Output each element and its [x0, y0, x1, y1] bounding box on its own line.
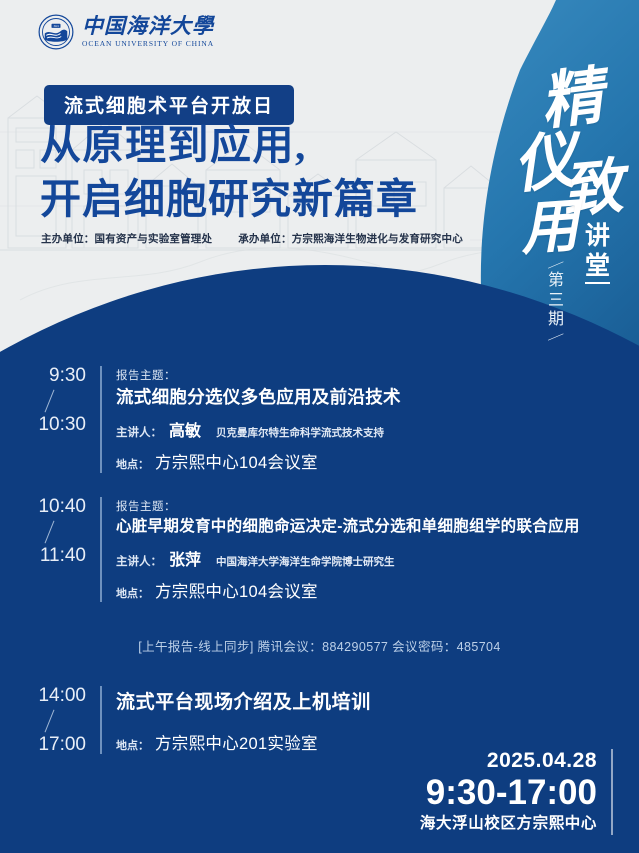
time-separator-slash — [0, 705, 86, 735]
speaker-affiliation: 贝克曼库尔特生命科学流式技术支持 — [216, 425, 384, 440]
series-name-char-2: 堂 — [585, 252, 610, 285]
topic-label: 报告主题： — [116, 498, 639, 514]
place-value: 方宗熙中心201实验室 — [155, 730, 318, 754]
session-end-time: 17:00 — [0, 735, 86, 754]
speaker-label: 主讲人： — [116, 424, 162, 440]
schedule-row: 14:00 17:00 流式平台现场介绍及上机培训 地点： 方宗熙中心201实验… — [0, 686, 639, 754]
session-topic: 流式细胞分选仪多色应用及前沿技术 — [116, 387, 639, 408]
svg-text:1924: 1924 — [53, 25, 59, 28]
event-venue: 海大浮山校区方宗熙中心 — [420, 814, 597, 835]
organizer-co: 承办单位：方宗熙海洋生物进化与发育研究中心 — [238, 231, 463, 246]
poster-root: 1924 中国海洋大學 OCEAN UNIVERSITY OF CHINA 流式… — [0, 0, 639, 853]
title-line-2: 开启细胞研究新篇章 — [40, 172, 418, 226]
time-separator-slash — [0, 385, 86, 415]
session-end-time: 11:40 — [0, 546, 86, 565]
speaker-row: 主讲人： 张萍 中国海洋大学海洋生命学院博士研究生 — [116, 546, 639, 570]
place-label: 地点： — [116, 585, 149, 601]
logo-name-en: OCEAN UNIVERSITY OF CHINA — [82, 40, 214, 48]
session-topic: 流式平台现场介绍及上机培训 — [116, 687, 639, 714]
speaker-name: 高敏 — [169, 417, 201, 441]
schedule-row: 10:40 11:40 报告主题： 心脏早期发育中的细胞命运决定-流式分选和单细… — [0, 497, 639, 602]
place-label: 地点： — [116, 737, 149, 753]
speaker-label: 主讲人： — [116, 553, 162, 569]
calligraphy-char-yong: 用 — [517, 178, 581, 266]
speaker-affiliation: 中国海洋大学海洋生命学院博士研究生 — [216, 554, 395, 569]
event-datetime-block: 2025.04.28 9:30-17:00 海大浮山校区方宗熙中心 — [420, 749, 613, 835]
ouc-seal-icon: 1924 — [38, 14, 74, 50]
place-row: 地点： 方宗熙中心104会议室 — [116, 449, 639, 473]
speaker-name: 张萍 — [169, 546, 201, 570]
place-value: 方宗熙中心104会议室 — [155, 578, 318, 602]
session-end-time: 10:30 — [0, 415, 86, 434]
session-topic: 心脏早期发育中的细胞命运决定-流式分选和单细胞组学的联合应用 — [116, 518, 639, 537]
afternoon-session: 14:00 17:00 流式平台现场介绍及上机培训 地点： 方宗熙中心201实验… — [0, 686, 639, 754]
session-details: 流式平台现场介绍及上机培训 地点： 方宗熙中心201实验室 — [116, 686, 639, 754]
session-details: 报告主题： 流式细胞分选仪多色应用及前沿技术 主讲人： 高敏 贝克曼库尔特生命科… — [116, 366, 639, 473]
organizer-main: 主办单位：国有资产与实验室管理处 — [41, 231, 212, 246]
series-name-char-1: 讲 — [585, 222, 610, 252]
organizer-line: 主办单位：国有资产与实验室管理处 承办单位：方宗熙海洋生物进化与发育研究中心 — [41, 231, 463, 246]
topic-label: 报告主题： — [116, 367, 639, 383]
speaker-row: 主讲人： 高敏 贝克曼库尔特生命科学流式技术支持 — [116, 417, 639, 441]
title-line-1: 从原理到应用, — [40, 118, 418, 172]
row-divider — [100, 366, 102, 473]
session-start-time: 10:40 — [0, 497, 86, 516]
online-meeting-note: [上午报告-线上同步] 腾讯会议：884290577 会议密码：485704 — [0, 636, 639, 655]
place-row: 地点： 方宗熙中心104会议室 — [116, 578, 639, 602]
session-time: 14:00 17:00 — [0, 686, 100, 754]
issue-char-2: 三 — [548, 291, 564, 311]
schedule-list: 9:30 10:30 报告主题： 流式细胞分选仪多色应用及前沿技术 主讲人： 高… — [0, 366, 639, 602]
session-start-time: 14:00 — [0, 686, 86, 705]
issue-bar-bottom: ／ — [546, 327, 566, 345]
university-logo: 1924 中国海洋大學 OCEAN UNIVERSITY OF CHINA — [38, 14, 214, 50]
page-title: 从原理到应用, 开启细胞研究新篇章 — [40, 118, 418, 226]
schedule-row: 9:30 10:30 报告主题： 流式细胞分选仪多色应用及前沿技术 主讲人： 高… — [0, 366, 639, 473]
time-separator-slash — [0, 516, 86, 546]
session-time: 9:30 10:30 — [0, 366, 100, 473]
issue-number: ／ 第 三 期 ／ — [548, 258, 564, 343]
row-divider — [100, 686, 102, 754]
place-label: 地点： — [116, 456, 149, 472]
session-time: 10:40 11:40 — [0, 497, 100, 602]
session-start-time: 9:30 — [0, 366, 86, 385]
place-value: 方宗熙中心104会议室 — [155, 449, 318, 473]
session-details: 报告主题： 心脏早期发育中的细胞命运决定-流式分选和单细胞组学的联合应用 主讲人… — [116, 497, 639, 602]
event-date: 2025.04.28 — [420, 749, 597, 773]
logo-name-cn: 中国海洋大學 — [82, 16, 214, 37]
series-name: 讲 堂 — [585, 222, 610, 284]
row-divider — [100, 497, 102, 602]
event-time-range: 9:30-17:00 — [420, 773, 597, 812]
